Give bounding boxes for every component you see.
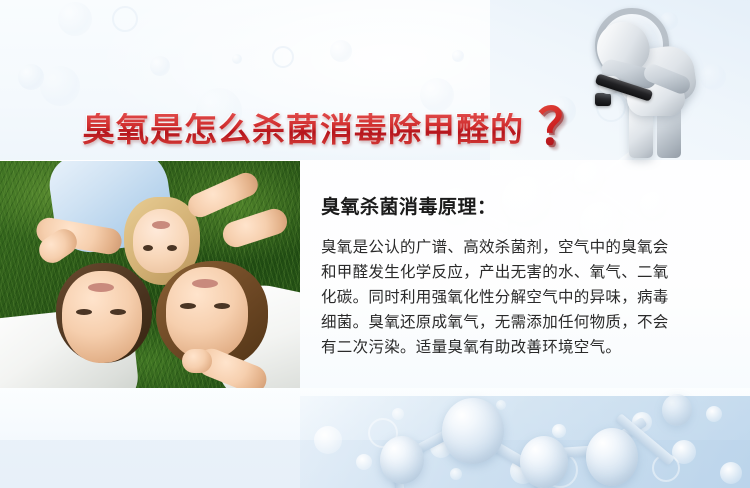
paragraph-line: 有二次污染。适量臭氧有助改善环境空气。: [321, 335, 731, 360]
child-eye-right: [167, 245, 177, 251]
banner-title-text: 臭氧是怎么杀菌消毒除甲醛的: [82, 113, 524, 146]
mother-eye-right: [214, 303, 230, 309]
child-mouth: [152, 221, 170, 229]
paragraph-line: 和甲醛发生化学反应，产出无害的水、氧气、二氧: [321, 260, 731, 285]
section-heading: 臭氧杀菌消毒原理：: [321, 196, 731, 219]
infographic-banner: 臭氧是怎么杀菌消毒除甲醛的 ？: [0, 0, 750, 488]
paragraph-line: 化碳。同时利用强氧化性分解空气中的异味，病毒: [321, 285, 731, 310]
text-column: 臭氧杀菌消毒原理： 臭氧是公认的广谱、高效杀菌剂，空气中的臭氧会 和甲醛发生化学…: [321, 196, 731, 360]
mother-eye-left: [180, 303, 196, 309]
background-bokeh-field: [300, 396, 750, 488]
child-face: [133, 209, 189, 273]
father-eye-right: [110, 309, 126, 315]
child-eye-left: [143, 245, 153, 251]
family-photo: [0, 161, 300, 388]
banner-title: 臭氧是怎么杀菌消毒除甲醛的 ？: [82, 103, 642, 155]
paragraph-line: 臭氧是公认的广谱、高效杀菌剂，空气中的臭氧会: [321, 235, 731, 260]
question-mark-icon: ？: [538, 102, 588, 152]
paragraph-line: 细菌。臭氧还原成氧气，无需添加任何物质，不会: [321, 310, 731, 335]
mother-mouth: [192, 279, 218, 288]
magnifying-glass-handle-tip: [595, 93, 611, 106]
father-mouth: [88, 283, 114, 292]
father-eye-left: [76, 309, 92, 315]
mother-hand: [182, 349, 212, 373]
mannequin-figure: [595, 8, 750, 160]
body-paragraph: 臭氧是公认的广谱、高效杀菌剂，空气中的臭氧会 和甲醛发生化学反应，产出无害的水、…: [321, 235, 731, 361]
